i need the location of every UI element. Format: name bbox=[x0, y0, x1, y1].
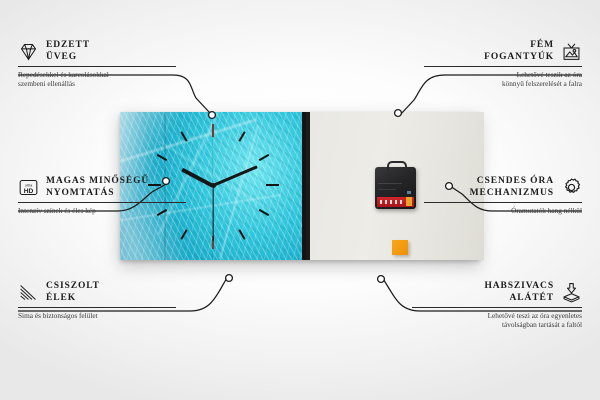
callout-title: FÉM bbox=[484, 40, 554, 52]
clock-tick bbox=[238, 131, 245, 142]
mechanism-label bbox=[377, 197, 414, 207]
infographic-canvas: EDZETT ÜVEG Repedésekkel és karcolásokka… bbox=[0, 0, 600, 400]
polished-edges-icon bbox=[18, 282, 39, 303]
callout-title: HABSZIVACS bbox=[484, 281, 554, 293]
callout-title-2: FOGANTYÚK bbox=[484, 52, 554, 64]
callout-metal-handles[interactable]: FÉM FOGANTYÚK Lehetővé teszik az óra kön… bbox=[424, 40, 582, 88]
callout-subtitle: Repedésekkel és karcolásokkal bbox=[18, 70, 176, 79]
clock-center-cap bbox=[211, 183, 216, 188]
callout-divider bbox=[18, 66, 176, 67]
callout-divider bbox=[18, 307, 176, 308]
callout-subtitle-2: szembeni ellenállás bbox=[18, 79, 176, 88]
callout-polished-edges[interactable]: CSISZOLT ÉLEK Sima és biztonságos felüle… bbox=[18, 281, 176, 320]
second-hand bbox=[212, 186, 213, 241]
callout-silent-mechanism[interactable]: CSENDES ÓRA MECHANIZMUS Óramutatók hang … bbox=[424, 176, 582, 215]
connector-endpoint bbox=[226, 275, 233, 282]
connector-endpoint bbox=[378, 276, 385, 283]
clock-tick bbox=[212, 124, 214, 137]
callout-title: MAGAS MINŐSÉGŰ bbox=[46, 176, 149, 188]
ultra-hd-icon: ultra HD bbox=[18, 177, 39, 198]
callout-subtitle: Sima és biztonságos felület bbox=[18, 311, 176, 320]
mechanism-hook bbox=[387, 161, 407, 171]
clock-tick bbox=[259, 209, 270, 216]
callout-title: CSISZOLT bbox=[46, 281, 100, 293]
callout-divider bbox=[412, 307, 582, 308]
foam-spacer-pad bbox=[392, 240, 408, 255]
callout-title: CSENDES ÓRA bbox=[470, 176, 554, 188]
callout-title-2: ÜVEG bbox=[46, 52, 90, 64]
callout-title-2: ALÁTÉT bbox=[484, 293, 554, 305]
clock-tick bbox=[266, 184, 279, 186]
callout-subtitle-2: könnyű felszerelését a falra bbox=[424, 79, 582, 88]
foam-pad-icon bbox=[561, 282, 582, 303]
callout-subtitle: Lehetővé teszi az óra egyenletes bbox=[412, 311, 582, 320]
callout-tempered-glass[interactable]: EDZETT ÜVEG Repedésekkel és karcolásokka… bbox=[18, 40, 176, 88]
mechanism-seam bbox=[378, 183, 402, 184]
callout-foam-backing[interactable]: HABSZIVACS ALÁTÉT Lehetővé teszi az óra … bbox=[412, 281, 582, 329]
callout-subtitle: Lehetővé teszik az óra bbox=[424, 70, 582, 79]
callout-title-2: ÉLEK bbox=[46, 293, 100, 305]
svg-text:HD: HD bbox=[24, 188, 34, 195]
callout-divider bbox=[424, 66, 582, 67]
callout-title: EDZETT bbox=[46, 40, 90, 52]
clock-tick bbox=[259, 154, 270, 161]
callout-high-quality-print[interactable]: ultra HD MAGAS MINŐSÉGŰ NYOMTATÁS Intenz… bbox=[18, 176, 186, 215]
mechanism-port bbox=[407, 191, 411, 194]
diamond-icon bbox=[18, 41, 39, 62]
picture-hanger-icon bbox=[561, 41, 582, 62]
clock-mechanism bbox=[375, 167, 416, 209]
callout-subtitle-2: távolságban tartását a faltól bbox=[412, 320, 582, 329]
clock-tick bbox=[238, 229, 245, 240]
minute-hand bbox=[212, 165, 257, 187]
clock-tick bbox=[180, 229, 187, 240]
callout-title-2: NYOMTATÁS bbox=[46, 188, 149, 200]
gear-icon bbox=[561, 177, 582, 198]
callout-subtitle: Óramutatók hang nélkül bbox=[424, 206, 582, 215]
callout-subtitle: Intenzív színek és éles kép bbox=[18, 206, 186, 215]
callout-divider bbox=[18, 202, 186, 203]
callout-title-2: MECHANIZMUS bbox=[470, 188, 554, 200]
mechanism-seam bbox=[378, 189, 396, 190]
callout-divider bbox=[424, 202, 582, 203]
battery-contact bbox=[406, 197, 412, 206]
